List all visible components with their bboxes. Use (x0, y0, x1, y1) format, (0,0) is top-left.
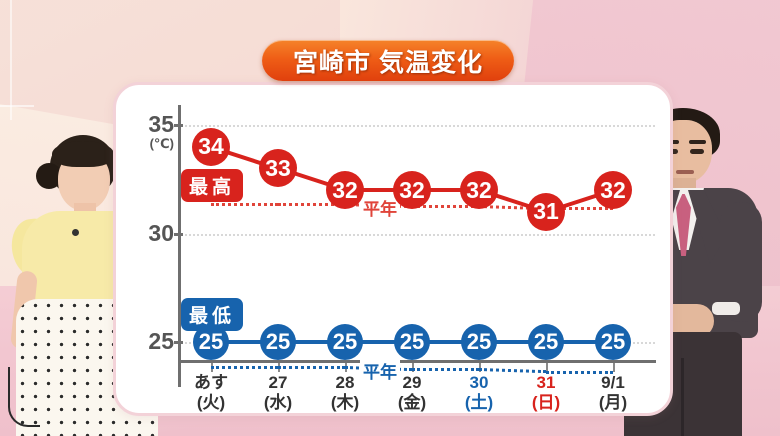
low-temp-marker-6: 25 (595, 324, 631, 360)
background-accent-line-vertical (10, 0, 12, 120)
y-axis-label-35: 35 (122, 113, 174, 136)
normal-line-segment (211, 366, 278, 369)
normal-line-label: 平年 (360, 195, 400, 220)
x-axis (178, 360, 656, 363)
anchor-cuff-right (712, 302, 740, 315)
normal-line-label: 平年 (360, 358, 400, 383)
series-badge-high: 最高 (181, 169, 243, 202)
anchor-eye-right (690, 149, 704, 154)
gridline-30 (181, 234, 655, 236)
low-temp-marker-1: 25 (260, 324, 296, 360)
low-temp-marker-2: 25 (327, 324, 363, 360)
presenter-mic-cable (8, 367, 40, 427)
x-axis-label-5: 31(日) (511, 373, 581, 412)
series-badge-low: 最低 (181, 298, 243, 331)
normal-line-segment (211, 203, 278, 206)
low-temp-marker-5: 25 (528, 324, 564, 360)
high-temp-marker-0: 34 (192, 128, 230, 166)
y-axis-label-30: 30 (122, 222, 174, 245)
high-temp-marker-3: 32 (393, 171, 431, 209)
y-axis (178, 105, 181, 387)
chart-title-text: 宮崎市 気温変化 (293, 43, 483, 79)
temperature-chart-panel: 253035(℃)あす(火)27(水)28(木)29(金)30(土)31(日)9… (113, 82, 673, 416)
gridline-35 (181, 125, 655, 127)
anchor-mouth (676, 170, 694, 174)
studio-scene: 253035(℃)あす(火)27(水)28(木)29(金)30(土)31(日)9… (0, 0, 780, 436)
anchor-trouser-seam (681, 358, 684, 436)
y-axis-unit: (℃) (122, 136, 174, 152)
high-temp-marker-1: 33 (259, 149, 297, 187)
normal-line-segment (278, 366, 345, 369)
high-temp-marker-4: 32 (460, 171, 498, 209)
background-accent-line-horizontal (0, 105, 34, 107)
x-axis-label-6: 9/1(月) (578, 373, 648, 412)
normal-line-segment (546, 371, 613, 374)
presenter-microphone (72, 229, 79, 236)
x-axis-label-4: 30(土) (444, 373, 514, 412)
x-tick-6 (613, 363, 615, 372)
high-temp-marker-2: 32 (326, 171, 364, 209)
low-temp-marker-4: 25 (461, 324, 497, 360)
high-temp-marker-5: 31 (527, 193, 565, 231)
low-temp-marker-3: 25 (394, 324, 430, 360)
normal-line-segment (412, 368, 479, 371)
presenter-fringe (52, 141, 114, 167)
chart-title-banner: 宮崎市 気温変化 (262, 40, 514, 81)
x-axis-label-1: 27(水) (243, 373, 313, 412)
x-axis-label-0: あす(火) (176, 373, 246, 412)
chart-plot-area: 253035(℃)あす(火)27(水)28(木)29(金)30(土)31(日)9… (116, 85, 676, 419)
high-temp-marker-6: 32 (594, 171, 632, 209)
y-axis-label-25: 25 (122, 330, 174, 353)
anchor-eyebrow-right (689, 140, 706, 144)
